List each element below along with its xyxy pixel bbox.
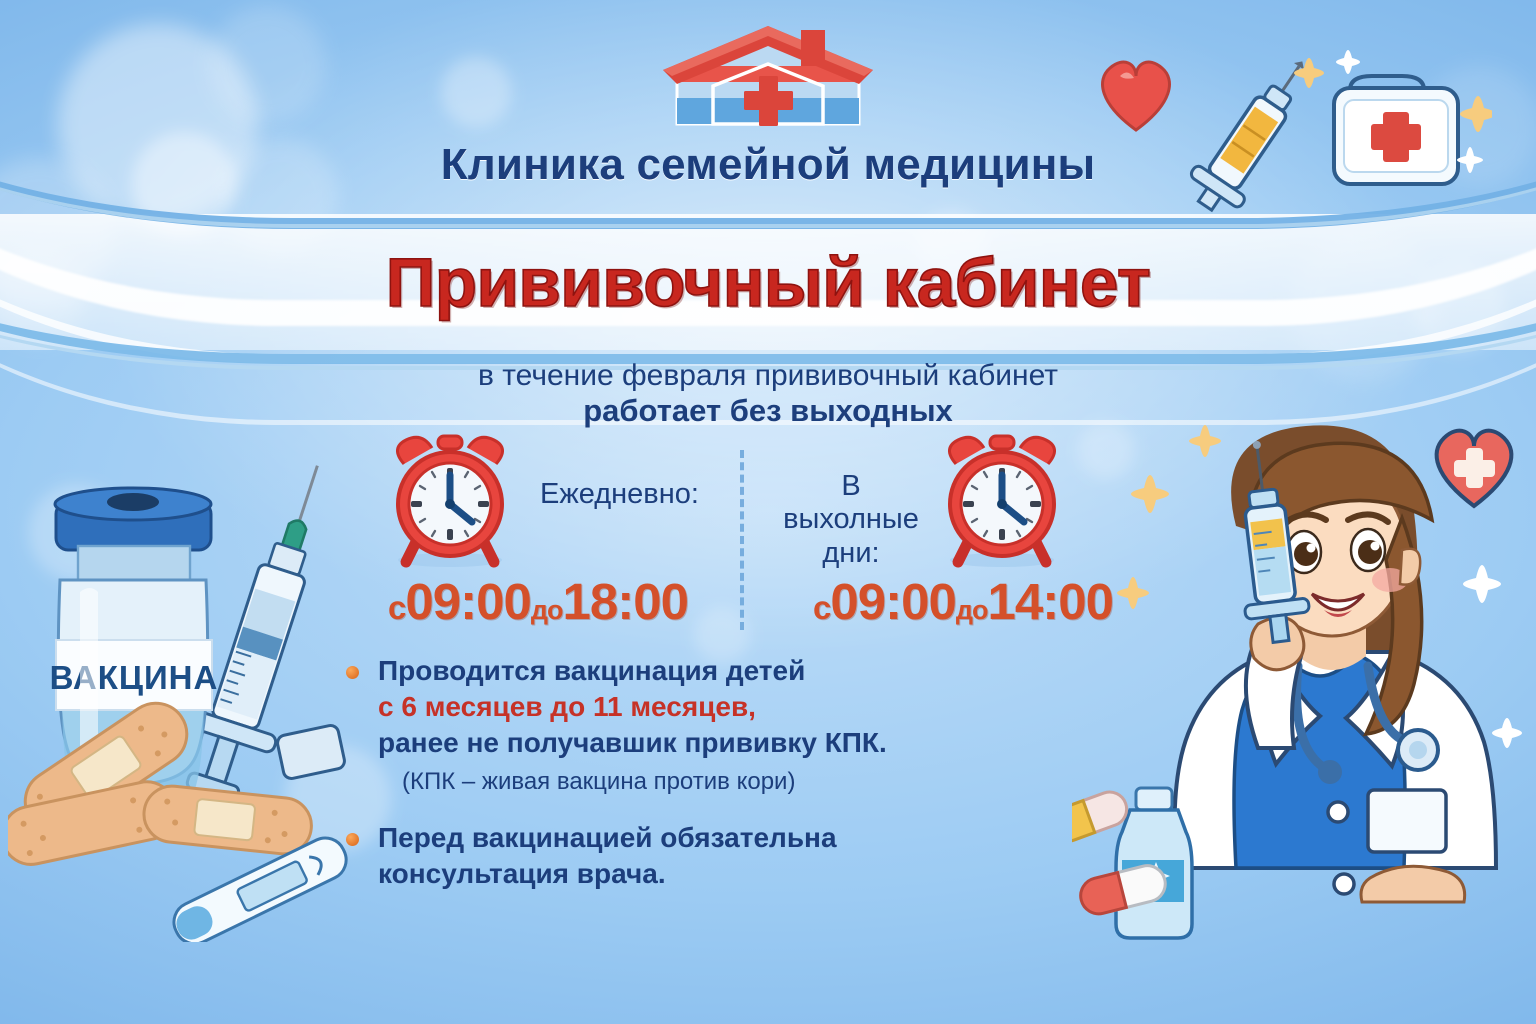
coat-pocket: [1368, 790, 1446, 852]
clinic-name: Клиника семейной медицины: [0, 140, 1536, 190]
bullet-2-line-1: Перед вакцинацией обязательна: [378, 820, 964, 856]
hours-prefix: с: [813, 589, 830, 626]
bandage-icon: [141, 783, 314, 856]
capsule-pill-icon: [1072, 787, 1131, 846]
right-hand: [1361, 866, 1465, 902]
syringe-icon: [1180, 46, 1327, 222]
subtitle-line-1: в течение февраля прививочный кабинет: [0, 358, 1536, 393]
hair-back: [1231, 425, 1417, 704]
bullet-dot-icon: [346, 833, 359, 846]
clinic-house-cross-icon: [633, 24, 903, 139]
schedule-hours-weekday: с09:00до18:00: [352, 572, 724, 631]
bullet-1-line-3-text: ранее не получавшик прививку: [378, 727, 825, 758]
list-item: Перед вакцинацией обязательна консультац…: [344, 820, 964, 892]
bullet-1-note: (КПК – живая вакцина против кори): [378, 766, 964, 797]
scrubs: [1234, 654, 1405, 868]
left-arm: [1246, 622, 1303, 748]
needle-cap: [276, 724, 346, 780]
bullet-2-line-2: консультация врача.: [378, 856, 964, 892]
schedule-section: Ежедневно: с09:00до18:00 В выхолные дни:: [352, 430, 1162, 650]
hours-separator: до: [531, 595, 563, 625]
hours-from: 09:00: [405, 573, 530, 630]
clock-row: Ежедневно:: [352, 430, 724, 570]
alarm-clock-icon: [380, 430, 520, 570]
bullet-list: Проводится вакцинация детей с 6 месяцев …: [344, 653, 964, 907]
hours-separator: до: [956, 595, 988, 625]
bullet-1-line-3: ранее не получавшик прививку КПК.: [378, 725, 964, 761]
bullet-1-line-1: Проводится вакцинация детей: [378, 653, 964, 689]
vaccine-vial-scene: ВАКЦИНА: [8, 442, 368, 942]
syringe-icon: [167, 452, 361, 809]
schedule-label-weekday: Ежедневно:: [540, 478, 699, 511]
schedule-label-weekend-line1: В выхолные: [776, 470, 926, 537]
top-right-icon-cluster: [1092, 46, 1492, 226]
medicine-bottle-icon: [1116, 788, 1192, 938]
schedule-hours-weekend: с09:00до14:00: [764, 572, 1162, 631]
hours-to: 14:00: [988, 573, 1113, 630]
hours-from: 09:00: [830, 573, 955, 630]
clock-row: В выхолные дни:: [764, 430, 1162, 570]
vaccine-vial-icon: ВАКЦИНА: [50, 488, 219, 818]
subtitle-line-2: работает без выходных: [0, 393, 1536, 430]
alarm-clock-icon: [932, 430, 1072, 570]
schedule-label-weekend: В выхолные дни:: [776, 470, 926, 570]
poster-canvas: Клиника семейной медицины Прививочный ка…: [0, 0, 1536, 1024]
bullet-1-kpk: КПК.: [825, 727, 887, 758]
sparkle-icon: [1454, 565, 1522, 860]
hair-front: [1249, 443, 1432, 554]
subtitle-block: в течение февраля прививочный кабинет ра…: [0, 358, 1536, 430]
syringe-icon: [1225, 437, 1313, 645]
bokeh-circle: [58, 24, 258, 224]
schedule-label-weekend-line2: дни:: [776, 537, 926, 570]
stethoscope-icon: [1297, 666, 1328, 770]
thermometer-icon: [167, 831, 353, 942]
heart-cross-icon: [1437, 431, 1512, 506]
bullet-dot-icon: [346, 666, 359, 679]
sparkle-icon: [1294, 58, 1492, 132]
bullet-1-line-2: с 6 месяцев до 11 месяцев,: [378, 689, 964, 725]
schedule-block-weekday: Ежедневно: с09:00до18:00: [352, 430, 724, 570]
bokeh-circle: [208, 6, 326, 124]
bandage-icon: [13, 691, 199, 844]
list-item: Проводится вакцинация детей с 6 месяцев …: [344, 653, 964, 798]
schedule-divider: [740, 450, 744, 630]
schedule-block-weekend: В выхолные дни:: [764, 430, 1162, 570]
lab-coat: [1175, 652, 1497, 868]
heart-icon: [1103, 62, 1170, 130]
svg-text:ВАКЦИНА: ВАКЦИНА: [50, 659, 219, 696]
hours-to: 18:00: [563, 573, 688, 630]
hand: [1251, 617, 1304, 670]
capsule-pill-icon: [1077, 862, 1169, 918]
bandage-icon: [8, 776, 181, 869]
hours-prefix: с: [388, 589, 405, 626]
page-title: Прививочный кабинет: [0, 243, 1536, 322]
